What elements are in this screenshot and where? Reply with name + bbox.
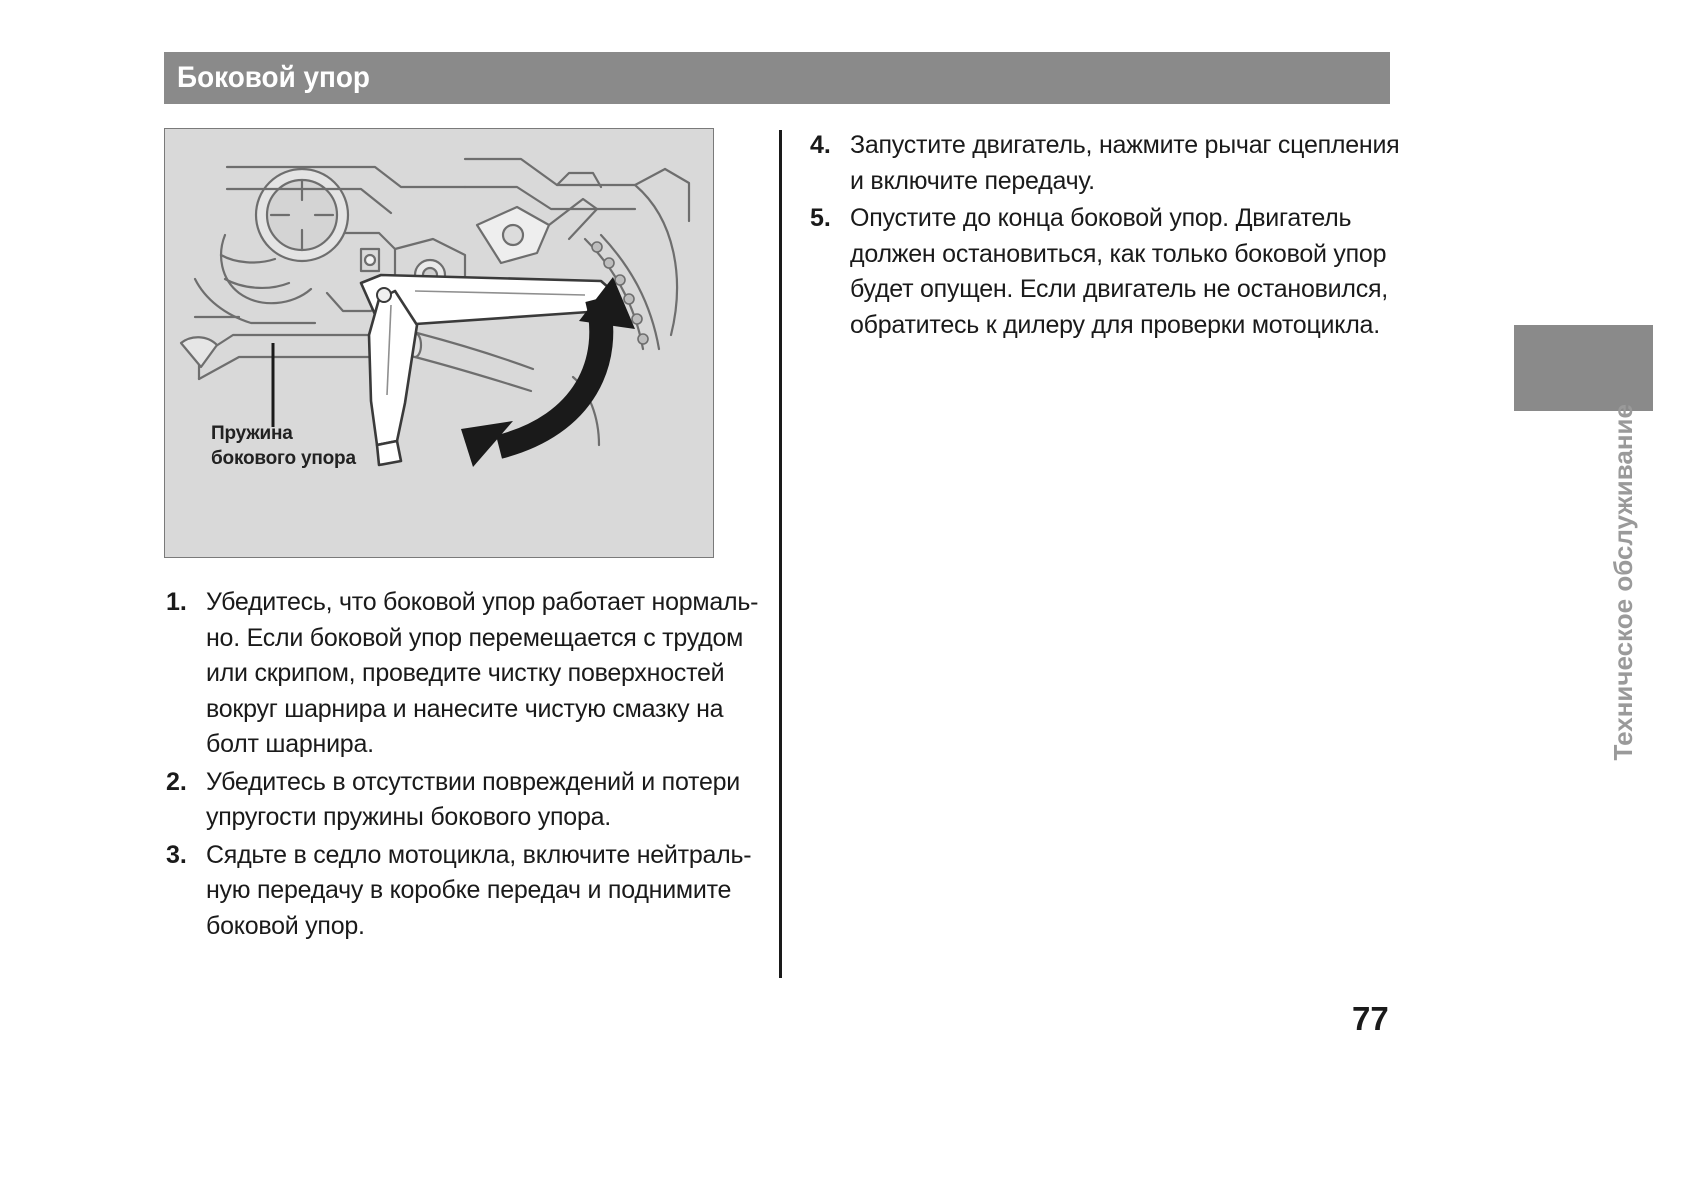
step-text: Опустите до конца боковой упор. Двигател… bbox=[850, 201, 1408, 343]
list-item: 5. Опустите до конца боковой упор. Двига… bbox=[808, 201, 1408, 343]
section-header-banner: Боковой упор bbox=[164, 52, 1390, 104]
figure-caption-line-1: Пружина bbox=[211, 421, 356, 446]
list-item: 3. Сядьте в седло мотоцикла, включите не… bbox=[164, 838, 774, 945]
sidestand-figure: Пружина бокового упора bbox=[164, 128, 714, 558]
list-item: 4. Запустите двигатель, нажмите рычаг сц… bbox=[808, 128, 1408, 199]
step-text: Убедитесь в отсутствии повреждений и пот… bbox=[206, 765, 774, 836]
page-title: Боковой упор bbox=[164, 63, 370, 93]
motorcycle-sidestand-drawing bbox=[165, 129, 713, 557]
step-text: Запустите двигатель, нажмите рычаг сцепл… bbox=[850, 128, 1408, 199]
step-number: 3. bbox=[164, 838, 206, 874]
column-divider bbox=[779, 130, 782, 978]
steps-list-left: 1. Убедитесь, что боковой упор работает … bbox=[164, 585, 774, 946]
chapter-side-label: Техническое обслуживание bbox=[1608, 404, 1639, 760]
chapter-thumb-tab bbox=[1514, 325, 1653, 411]
figure-caption-line-2: бокового упора bbox=[211, 446, 356, 471]
step-number: 2. bbox=[164, 765, 206, 801]
steps-list-right: 4. Запустите двигатель, нажмите рычаг сц… bbox=[808, 128, 1408, 345]
left-column: Пружина бокового упора bbox=[164, 128, 764, 558]
list-item: 2. Убедитесь в отсутствии повреждений и … bbox=[164, 765, 774, 836]
list-item: 1. Убедитесь, что боковой упор работает … bbox=[164, 585, 774, 763]
page-number: 77 bbox=[1352, 1000, 1389, 1038]
step-number: 1. bbox=[164, 585, 206, 621]
step-text: Убедитесь, что боковой упор работает нор… bbox=[206, 585, 774, 763]
step-number: 5. bbox=[808, 201, 850, 237]
step-text: Сядьте в седло мотоцикла, включите нейтр… bbox=[206, 838, 774, 945]
figure-caption: Пружина бокового упора bbox=[211, 421, 356, 471]
step-number: 4. bbox=[808, 128, 850, 164]
